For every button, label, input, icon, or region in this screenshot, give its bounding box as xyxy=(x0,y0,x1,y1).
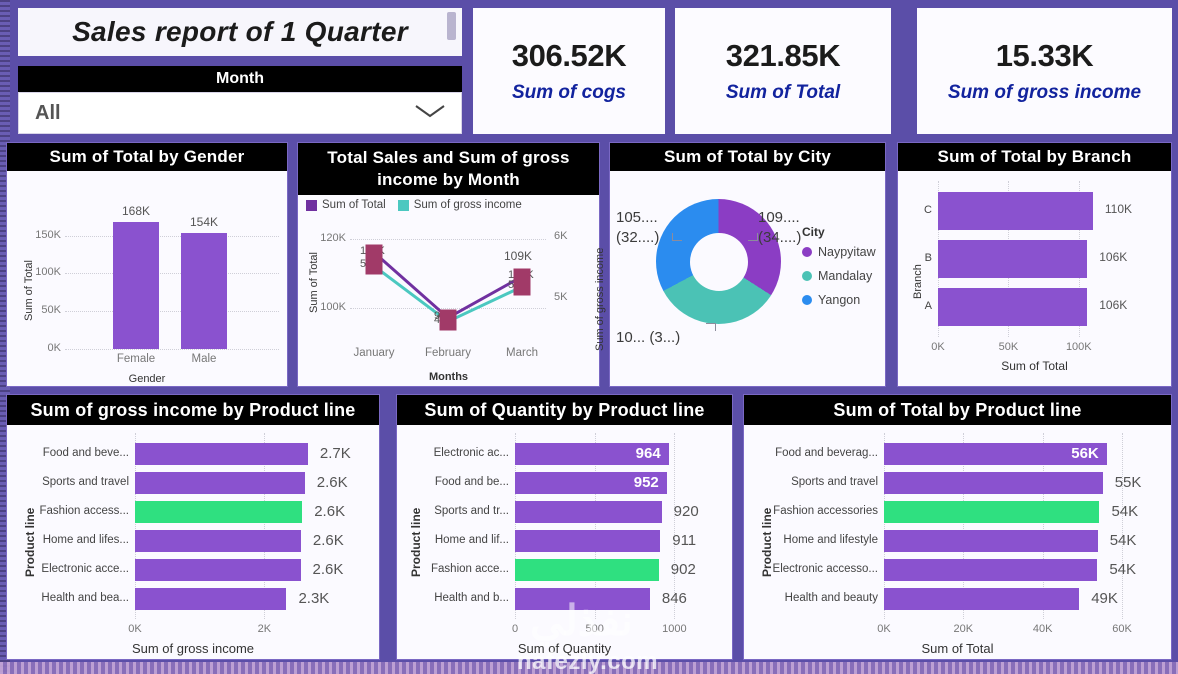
chart-title: Sum of Total by Product line xyxy=(744,395,1171,425)
kpi-label: Sum of cogs xyxy=(512,82,626,104)
y-axis-title: Branch xyxy=(912,264,924,299)
donut-callout-naypyitaw-pct: (34....) xyxy=(758,229,801,246)
kpi-label: Sum of gross income xyxy=(948,82,1141,104)
chart-title: Sum of gross income by Product line xyxy=(7,395,379,425)
bar-data-label: 952 xyxy=(515,472,667,494)
bar-data-label: 168K xyxy=(101,204,171,218)
legend-item-mandalay[interactable]: Mandalay xyxy=(802,269,872,283)
x-tick-label: 20K xyxy=(933,623,993,635)
kpi-card-gross-income: 15.33K Sum of gross income xyxy=(917,8,1172,134)
gridline xyxy=(65,349,279,350)
category-label: Electronic ac... xyxy=(411,447,509,459)
bar-data-label: 911 xyxy=(672,532,696,549)
category-label: Food and beverag... xyxy=(772,447,878,459)
x-tick-label: 1000 xyxy=(644,623,704,635)
page-title-text: Sales report of 1 Quarter xyxy=(72,16,408,48)
donut-callout-mandalay: 10... (3...) xyxy=(616,329,680,346)
category-label: Health and beauty xyxy=(772,592,878,604)
chart-sales-and-gross-income-by-month[interactable]: Total Sales and Sum of gross income by M… xyxy=(297,142,600,387)
category-label: Sports and travel xyxy=(772,476,878,488)
title-scrollbar[interactable] xyxy=(447,12,456,40)
x-tick-label: 40K xyxy=(1013,623,1073,635)
donut-callout-yangon: 105.... xyxy=(616,209,658,226)
bar-data-label: 154K xyxy=(169,215,239,229)
slicer-dropdown[interactable]: All xyxy=(18,92,462,134)
category-label: Health and b... xyxy=(411,592,509,604)
chart-title: Sum of Total by Branch xyxy=(898,143,1171,171)
x-tick-label: March xyxy=(482,347,562,359)
bar-data-label: 2.6K xyxy=(313,561,344,578)
category-label: Sports and tr... xyxy=(411,505,509,517)
kpi-value: 321.85K xyxy=(726,38,840,74)
x-tick-label: 500 xyxy=(565,623,625,635)
category-label: Food and be... xyxy=(411,476,509,488)
bar[interactable] xyxy=(515,588,650,610)
bar-data-label: 49K xyxy=(1091,590,1118,607)
bar[interactable] xyxy=(884,559,1097,581)
bar[interactable] xyxy=(884,472,1103,494)
point-data-label-march-total: 109K xyxy=(504,249,532,263)
legend-label: Naypyitaw xyxy=(818,245,876,259)
chart-total-by-branch[interactable]: Sum of Total by Branch BranchSum of Tota… xyxy=(897,142,1172,387)
bar-data-label: 2.3K xyxy=(298,590,329,607)
bar-data-label: 964 xyxy=(515,443,669,465)
category-label: Health and bea... xyxy=(29,592,129,604)
line-series-paths xyxy=(298,195,601,388)
chart-title: Total Sales and Sum of gross income by M… xyxy=(298,143,599,195)
y-tick-label: 100K xyxy=(19,266,61,278)
category-label: B xyxy=(914,252,932,264)
bar[interactable] xyxy=(515,501,662,523)
gridline xyxy=(1122,433,1123,619)
bar-data-label: 56K xyxy=(884,443,1107,465)
bar[interactable] xyxy=(884,530,1098,552)
bar-data-label: 110K xyxy=(1105,202,1132,216)
chart-quantity-by-product-line[interactable]: Sum of Quantity by Product line Product … xyxy=(396,394,733,660)
category-label: Home and lifes... xyxy=(29,534,129,546)
leader-line xyxy=(706,323,716,331)
chart-title: Sum of Quantity by Product line xyxy=(397,395,732,425)
x-axis-title: Sum of Quantity xyxy=(397,641,732,656)
x-axis-title: Sum of Total xyxy=(744,641,1171,656)
legend-title: City xyxy=(802,225,825,239)
kpi-value: 15.33K xyxy=(996,38,1094,74)
bar[interactable] xyxy=(135,472,305,494)
bar[interactable] xyxy=(515,530,660,552)
chart-gross-income-by-product-line[interactable]: Sum of gross income by Product line Prod… xyxy=(6,394,380,660)
x-tick-label: February xyxy=(408,347,488,359)
page-title: Sales report of 1 Quarter xyxy=(18,8,462,56)
bar[interactable] xyxy=(113,222,159,349)
gridline xyxy=(65,236,279,237)
x-tick-label: 0K xyxy=(908,341,968,353)
kpi-card-cogs: 306.52K Sum of cogs xyxy=(473,8,665,134)
bar[interactable] xyxy=(938,288,1087,326)
x-axis-title: Sum of Total xyxy=(898,359,1171,373)
slicer-value: All xyxy=(35,102,61,125)
data-point-marker[interactable] xyxy=(366,257,383,274)
bar-data-label: 846 xyxy=(662,590,687,607)
x-tick-label: 0K xyxy=(105,623,165,635)
bar-data-label: 106K xyxy=(1099,298,1127,312)
category-label: Fashion access... xyxy=(29,505,129,517)
bar[interactable] xyxy=(135,588,286,610)
x-tick-label: 2K xyxy=(234,623,294,635)
x-tick-label: 60K xyxy=(1092,623,1152,635)
category-label: Home and lifestyle xyxy=(772,534,878,546)
category-label: C xyxy=(914,204,932,216)
bar[interactable] xyxy=(884,588,1079,610)
category-label: Food and beve... xyxy=(29,447,129,459)
x-axis-title: Gender xyxy=(7,373,287,385)
category-label: Electronic accesso... xyxy=(772,563,878,575)
bar-data-label: 902 xyxy=(671,561,696,578)
bar-data-label: 54K xyxy=(1111,503,1138,520)
bar-data-label: 2.6K xyxy=(317,474,348,491)
legend-label: Yangon xyxy=(818,293,860,307)
legend-label: Mandalay xyxy=(818,269,872,283)
bar-data-label: 106K xyxy=(1099,250,1127,264)
donut-hole xyxy=(690,233,748,291)
bar[interactable] xyxy=(135,501,302,523)
chart-total-by-product-line[interactable]: Sum of Total by Product line Product lin… xyxy=(743,394,1172,660)
chart-title: Sum of Total by City xyxy=(610,143,885,171)
bar[interactable] xyxy=(181,233,227,349)
slicer-header: Month xyxy=(18,66,462,92)
bar[interactable] xyxy=(938,240,1087,278)
kpi-label: Sum of Total xyxy=(726,82,840,104)
bar-data-label: 920 xyxy=(674,503,699,520)
bar-data-label: 2.7K xyxy=(320,445,351,462)
chart-title: Sum of Total by Gender xyxy=(7,143,287,171)
category-label: Electronic acce... xyxy=(29,563,129,575)
dashboard-canvas: Sales report of 1 Quarter Month All 306.… xyxy=(0,0,1178,674)
donut-callout-yangon-pct: (32....) xyxy=(616,229,659,246)
donut-callout-naypyitaw: 109.... xyxy=(758,209,800,226)
x-tick-label: 50K xyxy=(978,341,1038,353)
y-tick-label: 150K xyxy=(19,229,61,241)
bar-data-label: 2.6K xyxy=(314,503,345,520)
x-tick-label: 0 xyxy=(485,623,545,635)
bottom-edge-texture xyxy=(0,662,1178,674)
legend-dot xyxy=(802,247,812,257)
leader-line xyxy=(748,233,758,241)
bar[interactable] xyxy=(135,559,301,581)
y-tick-label: 0K xyxy=(19,342,61,354)
gridline xyxy=(65,273,279,274)
legend-item-yangon[interactable]: Yangon xyxy=(802,293,860,307)
category-label: Home and lif... xyxy=(411,534,509,546)
month-slicer[interactable]: Month All xyxy=(18,66,462,134)
category-label: Fashion accessories xyxy=(772,505,878,517)
y-tick-label: 50K xyxy=(19,304,61,316)
bar-data-label: 2.6K xyxy=(313,532,344,549)
kpi-card-total: 321.85K Sum of Total xyxy=(675,8,891,134)
gridline xyxy=(65,311,279,312)
bar-data-label: 54K xyxy=(1109,561,1136,578)
legend-item-naypyitaw[interactable]: Naypyitaw xyxy=(802,245,876,259)
x-tick-label: January xyxy=(334,347,414,359)
x-tick-label: Male xyxy=(163,353,245,365)
kpi-value: 306.52K xyxy=(512,38,626,74)
data-point-marker[interactable] xyxy=(514,278,531,295)
category-label: A xyxy=(914,300,932,312)
bar[interactable] xyxy=(884,501,1099,523)
legend-dot xyxy=(802,271,812,281)
bar[interactable] xyxy=(135,443,308,465)
chart-total-by-city[interactable]: Sum of Total by City 105....(32....)109.… xyxy=(609,142,886,387)
x-axis-title: Sum of gross income xyxy=(7,641,379,656)
leader-line xyxy=(672,233,682,241)
data-point-marker[interactable] xyxy=(440,313,457,330)
x-tick-label: 100K xyxy=(1049,341,1109,353)
x-tick-label: 0K xyxy=(854,623,914,635)
chart-total-by-gender[interactable]: Sum of Total by Gender Sum of TotalGende… xyxy=(6,142,288,387)
category-label: Sports and travel xyxy=(29,476,129,488)
bar[interactable] xyxy=(135,530,301,552)
bar[interactable] xyxy=(515,559,659,581)
category-label: Fashion acce... xyxy=(411,563,509,575)
chevron-down-icon[interactable] xyxy=(413,103,447,124)
bar-data-label: 55K xyxy=(1115,474,1142,491)
legend-dot xyxy=(802,295,812,305)
bar[interactable] xyxy=(938,192,1093,230)
bar-data-label: 54K xyxy=(1110,532,1137,549)
